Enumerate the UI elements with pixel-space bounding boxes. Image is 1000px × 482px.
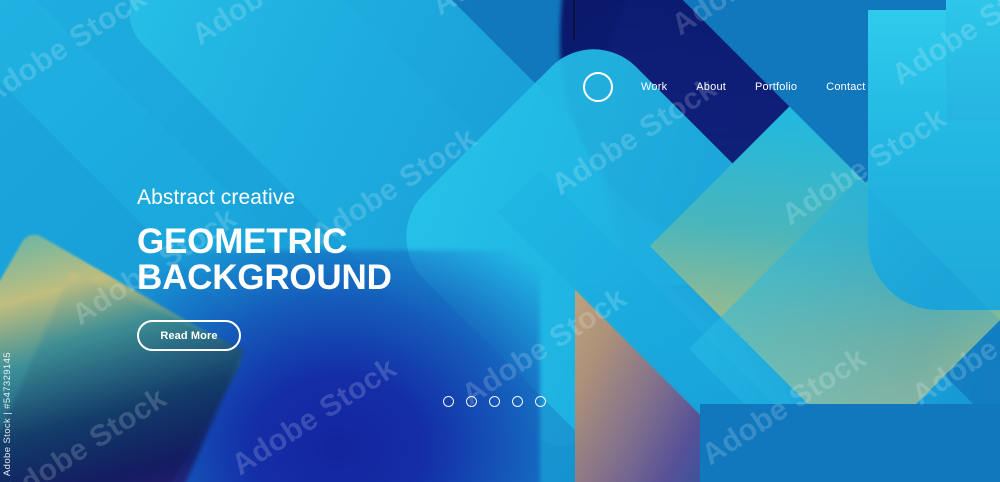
- watermark-text: Adobe Stock: [886, 0, 1000, 93]
- hero-copy: Abstract creative GEOMETRIC BACKGROUND: [137, 186, 392, 296]
- nav-link-work[interactable]: Work: [641, 77, 667, 97]
- watermark-text: Adobe Stock: [426, 0, 603, 23]
- hero-eyebrow: Abstract creative: [137, 186, 392, 210]
- warm-gradient-shape-center: [575, 285, 780, 482]
- landing-page-hero: Work About Portfolio Contact Abstract cr…: [0, 0, 1000, 482]
- cyan-right-edge-band: [946, 0, 1000, 120]
- cyan-rounded-trim-right: [868, 10, 1000, 310]
- carousel-dot-1[interactable]: [443, 396, 454, 407]
- nav-link-portfolio[interactable]: Portfolio: [755, 77, 797, 97]
- carousel-dot-5[interactable]: [535, 396, 546, 407]
- warm-gradient-center-mask: [575, 285, 790, 482]
- nav-links: Work About Portfolio Contact: [641, 77, 865, 97]
- watermark-text: Adobe Stock: [0, 381, 173, 482]
- bottom-right-fill: [700, 404, 1000, 482]
- page-title: GEOMETRIC BACKGROUND: [137, 224, 392, 296]
- watermark-text: Adobe Stock: [776, 101, 953, 232]
- carousel-pagination: [443, 396, 546, 407]
- nav-link-contact[interactable]: Contact: [826, 77, 865, 97]
- nav-link-about[interactable]: About: [696, 77, 726, 97]
- read-more-button[interactable]: Read More: [137, 320, 241, 351]
- watermark-text: Adobe Stock: [0, 0, 153, 113]
- carousel-dot-3[interactable]: [489, 396, 500, 407]
- watermark-text: Adobe Stock: [906, 281, 1000, 412]
- light-slab-lower-right: [689, 179, 1000, 482]
- stock-credit-label: Adobe Stock | #547329145: [2, 352, 13, 476]
- carousel-dot-4[interactable]: [512, 396, 523, 407]
- navy-gradient-blob-secondary: [600, 0, 840, 360]
- watermark-text: Adobe Stock: [456, 281, 633, 412]
- watermark-text: Adobe Stock: [696, 341, 873, 472]
- watermark-text: Adobe Stock: [186, 0, 363, 53]
- vertical-hairline: [573, 0, 575, 40]
- circle-logo-icon[interactable]: [583, 72, 613, 102]
- hero-title-line-2: BACKGROUND: [137, 260, 392, 296]
- cyan-diagonal-ribbon: [498, 170, 908, 482]
- watermark-text: Adobe Stock: [666, 0, 843, 43]
- navy-gradient-blob: [560, 0, 860, 240]
- hero-title-line-1: GEOMETRIC: [137, 224, 392, 260]
- carousel-dot-2[interactable]: [466, 396, 477, 407]
- warm-gradient-shape-left-overlay: [0, 273, 245, 482]
- watermark-text: Adobe Stock: [226, 351, 403, 482]
- main-navigation: Work About Portfolio Contact: [583, 72, 865, 102]
